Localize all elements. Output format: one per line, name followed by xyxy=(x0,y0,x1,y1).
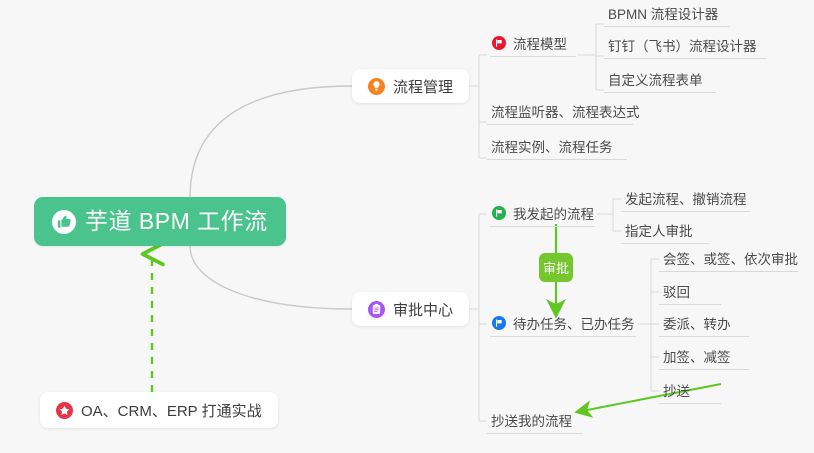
leaf-label: 流程监听器、流程表达式 xyxy=(491,101,640,121)
leaf-node-start-cancel-process[interactable]: 发起流程、撤销流程 xyxy=(621,185,750,212)
leaf-label: 流程模型 xyxy=(513,33,567,53)
footnote-label: OA、CRM、ERP 打通实战 xyxy=(81,400,262,421)
flag-icon xyxy=(492,36,506,50)
leaf-node-delegate-transfer[interactable]: 委派、转办 xyxy=(659,310,749,337)
approval-tag: 审批 xyxy=(539,253,573,282)
leaf-node-cc[interactable]: 抄送 xyxy=(659,377,721,404)
leaf-label: 自定义流程表单 xyxy=(608,69,703,89)
approval-tag-label: 审批 xyxy=(543,258,569,277)
leaf-node-cc-to-me[interactable]: 抄送我的流程 xyxy=(487,407,583,434)
leaf-node-todo-done-tasks[interactable]: 待办任务、已办任务 xyxy=(490,310,636,337)
leaf-node-bpmn-designer[interactable]: BPMN 流程设计器 xyxy=(604,0,730,27)
leaf-label: 钉钉（飞书）流程设计器 xyxy=(608,35,757,55)
leaf-node-process-listener[interactable]: 流程监听器、流程表达式 xyxy=(487,98,633,125)
leaf-label: 委派、转办 xyxy=(663,313,731,333)
leaf-label: 抄送我的流程 xyxy=(491,410,572,430)
leaf-node-assigned-approval[interactable]: 指定人审批 xyxy=(621,217,709,244)
leaf-node-reject[interactable]: 驳回 xyxy=(659,278,721,305)
mindmap-canvas: 芋道 BPM 工作流 流程管理 流程模型 BPMN 流程设计器 钉钉（飞书）流程… xyxy=(0,0,814,453)
leaf-node-add-remove-sign[interactable]: 加签、减签 xyxy=(659,343,749,370)
branch-label: 流程管理 xyxy=(393,76,453,97)
clipboard-icon xyxy=(368,301,385,318)
leaf-label: 指定人审批 xyxy=(625,220,693,240)
leaf-label: 流程实例、流程任务 xyxy=(491,136,613,156)
root-node[interactable]: 芋道 BPM 工作流 xyxy=(34,197,286,246)
star-icon xyxy=(56,402,73,419)
leaf-label: 会签、或签、依次审批 xyxy=(663,248,798,268)
flag-icon xyxy=(492,316,506,330)
leaf-node-custom-form[interactable]: 自定义流程表单 xyxy=(604,66,716,93)
leaf-label: 驳回 xyxy=(663,281,690,301)
footnote-node[interactable]: OA、CRM、ERP 打通实战 xyxy=(40,392,278,428)
leaf-node-dingtalk-designer[interactable]: 钉钉（飞书）流程设计器 xyxy=(604,32,766,59)
leaf-label: 发起流程、撤销流程 xyxy=(625,188,747,208)
branch-node-process-management[interactable]: 流程管理 xyxy=(352,69,469,103)
leaf-node-my-initiated-process[interactable]: 我发起的流程 xyxy=(490,200,595,227)
leaf-node-process-instance[interactable]: 流程实例、流程任务 xyxy=(487,133,627,160)
leaf-label: BPMN 流程设计器 xyxy=(608,3,718,23)
flag-icon xyxy=(492,206,506,220)
leaf-node-process-model[interactable]: 流程模型 xyxy=(490,30,576,57)
leaf-label: 抄送 xyxy=(663,380,690,400)
leaf-label: 加签、减签 xyxy=(663,346,731,366)
leaf-node-countersign[interactable]: 会签、或签、依次审批 xyxy=(659,245,798,272)
lightbulb-icon xyxy=(368,78,385,95)
leaf-label: 我发起的流程 xyxy=(513,203,594,223)
branch-node-approval-center[interactable]: 审批中心 xyxy=(352,292,469,326)
thumbs-up-icon xyxy=(52,210,76,234)
leaf-label: 待办任务、已办任务 xyxy=(513,313,635,333)
root-label: 芋道 BPM 工作流 xyxy=(85,210,268,233)
branch-label: 审批中心 xyxy=(393,299,453,320)
